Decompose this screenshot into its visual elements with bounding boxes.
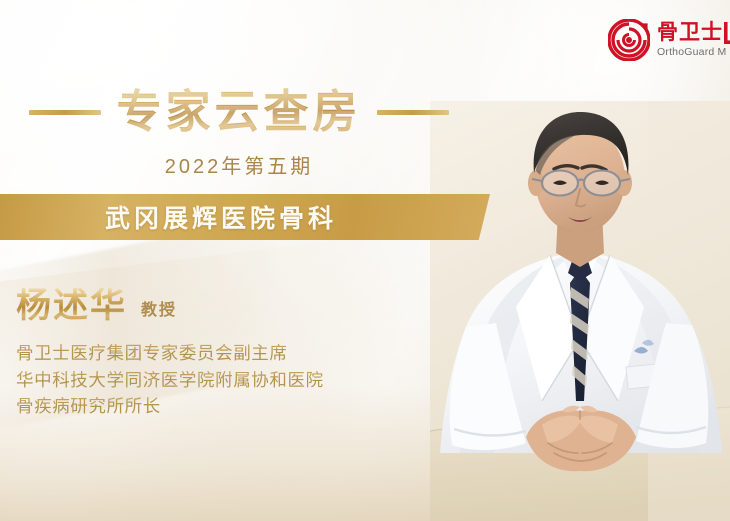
brand-name-cn: 骨卫士医 xyxy=(657,22,730,44)
orthoguard-spiral-logo-icon xyxy=(608,19,650,61)
speaker-honorific: 教授 xyxy=(141,303,177,323)
title-dash-left-icon xyxy=(29,110,101,115)
brand-logo-text: 骨卫士医 OrthoGuard M xyxy=(657,22,730,58)
page-title: 专家云查房 xyxy=(116,88,361,137)
hospital-banner: 武冈展辉医院骨科 xyxy=(0,194,490,240)
speaker-name: 杨述华 xyxy=(16,288,127,323)
speaker-credentials: 骨卫士医疗集团专家委员会副主席 华中科技大学同济医学院附属协和医院 骨疾病研究所… xyxy=(16,340,436,420)
brand-name-cn-boxed: 医 xyxy=(724,22,730,44)
speaker-name-row: 杨述华 教授 xyxy=(16,288,436,323)
title-dash-right-icon xyxy=(377,110,449,115)
speaker-info: 杨述华 教授 骨卫士医疗集团专家委员会副主席 华中科技大学同济医学院附属协和医院… xyxy=(16,288,436,420)
brand-logo: 骨卫士医 OrthoGuard M xyxy=(608,19,730,61)
credential-line: 华中科技大学同济医学院附属协和医院 xyxy=(16,367,436,394)
issue-subtitle: 2022年第五期 xyxy=(0,150,478,179)
credential-line: 骨疾病研究所所长 xyxy=(16,393,436,420)
hospital-banner-label: 武冈展辉医院骨科 xyxy=(105,199,337,235)
main-title-row: 专家云查房 xyxy=(0,88,478,137)
credential-line: 骨卫士医疗集团专家委员会副主席 xyxy=(16,340,436,367)
webinar-title-card: 骨卫士医 OrthoGuard M 专家云查房 2022年第五期 武冈展辉医院骨… xyxy=(0,0,730,521)
brand-name-en: OrthoGuard M xyxy=(657,46,730,58)
